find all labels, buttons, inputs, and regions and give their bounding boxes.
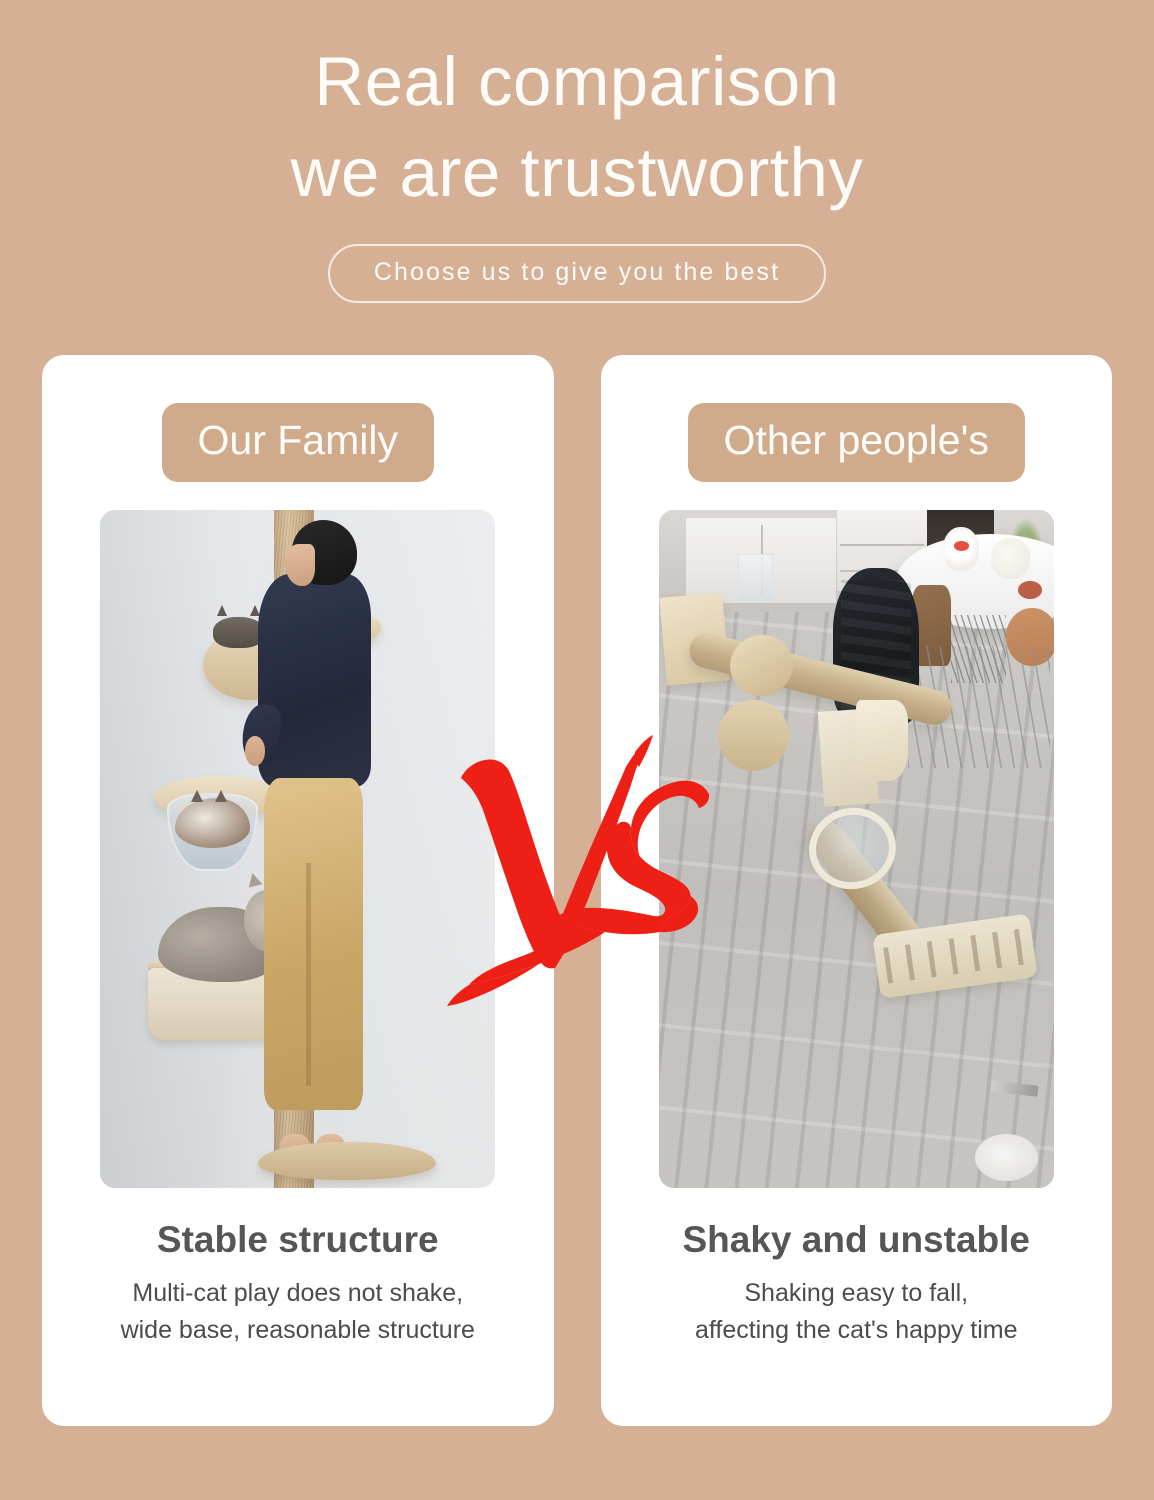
caption-desc-line-1: Multi-cat play does not shake,	[121, 1275, 475, 1313]
wide-base-board	[258, 1142, 436, 1180]
rabbit-toy	[943, 527, 979, 571]
card-badge-our-family: Our Family	[162, 403, 434, 482]
caption-our-family: Stable structure Multi-cat play does not…	[121, 1219, 475, 1350]
storage-crate	[738, 554, 774, 601]
caption-desc-line-1: Shaking easy to fall,	[683, 1275, 1031, 1313]
product-photo-our-family	[100, 510, 495, 1188]
caption-other-people: Shaky and unstable Shaking easy to fall,…	[683, 1219, 1031, 1350]
caption-desc-shaky: Shaking easy to fall, affecting the cat'…	[683, 1275, 1031, 1350]
table-plate	[1018, 581, 1042, 599]
caption-desc-line-2: wide base, reasonable structure	[121, 1312, 475, 1350]
subtitle-pill: Choose us to give you the best	[328, 244, 826, 303]
person-pants	[264, 778, 363, 1110]
comparison-card-other-people: Other people's	[601, 355, 1113, 1426]
person-face	[285, 544, 315, 586]
cat-calico-ears	[191, 778, 227, 801]
caption-desc-line-2: affecting the cat's happy time	[683, 1312, 1031, 1350]
page-title: Real comparison we are trustworthy	[0, 36, 1154, 218]
card-badge-other-people: Other people's	[688, 403, 1025, 482]
caption-title-shaky: Shaky and unstable	[683, 1219, 1031, 1262]
comparison-card-our-family: Our Family	[42, 355, 554, 1426]
comparison-cards: Our Family	[42, 355, 1112, 1426]
product-photo-other-people	[659, 510, 1054, 1188]
detached-foot-plate	[975, 1134, 1038, 1181]
ceramic-object	[991, 538, 1031, 579]
caption-title-stable: Stable structure	[121, 1219, 475, 1262]
cat-top	[213, 617, 264, 648]
scene-collapsed-cat-tree	[659, 510, 1054, 1188]
pant-crease	[306, 863, 312, 1087]
cat-calico	[175, 798, 250, 848]
scene-stable-cat-tree	[100, 510, 495, 1188]
header: Real comparison we are trustworthy Choos…	[0, 0, 1154, 303]
caption-desc-stable: Multi-cat play does not shake, wide base…	[121, 1275, 475, 1350]
person-torso	[258, 574, 371, 788]
person-hand	[245, 736, 265, 765]
fallen-fabric-bed	[856, 700, 907, 781]
page-title-line-1: Real comparison	[0, 36, 1154, 127]
page-title-line-2: we are trustworthy	[0, 127, 1154, 218]
